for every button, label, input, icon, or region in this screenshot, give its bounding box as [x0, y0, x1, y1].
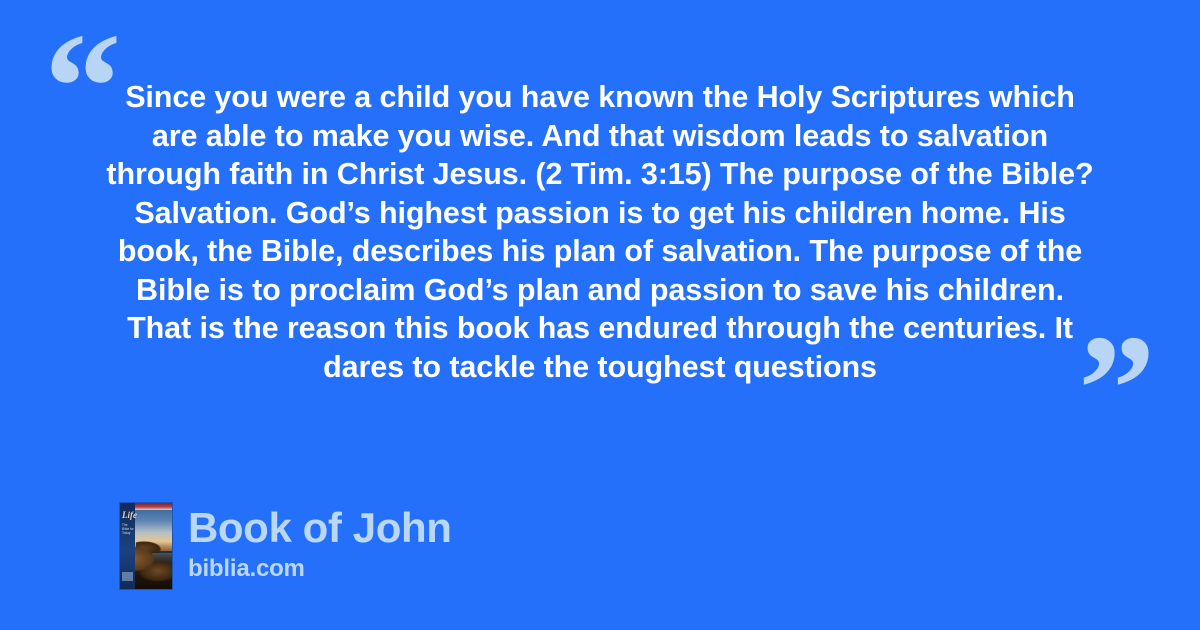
card-footer: Life The Bible for Today Book of John bi…	[120, 503, 452, 589]
cover-top-band	[134, 503, 172, 510]
book-cover-thumbnail: Life The Bible for Today	[120, 503, 172, 589]
cover-spine-footer-mark	[122, 572, 133, 581]
quote-card: “ ” Since you were a child you have know…	[0, 0, 1200, 630]
cover-spine-title: Life	[122, 511, 137, 520]
quote-text: Since you were a child you have known th…	[100, 78, 1100, 386]
book-title: Book of John	[188, 505, 452, 551]
site-name[interactable]: biblia.com	[188, 555, 452, 582]
cover-spine-subtitle: The Bible for Today	[122, 523, 134, 535]
footer-text-group: Book of John biblia.com	[188, 503, 452, 582]
cover-spine: Life The Bible for Today	[120, 503, 135, 589]
quote-block: Since you were a child you have known th…	[100, 78, 1100, 386]
